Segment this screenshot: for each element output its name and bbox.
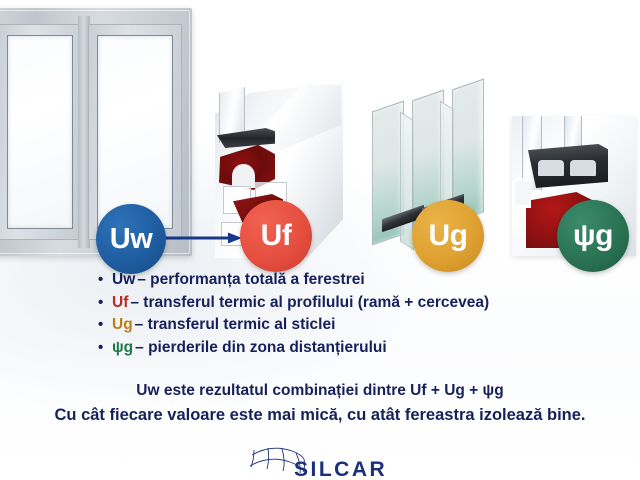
bullet-marker: • — [98, 340, 112, 355]
list-item: • ψg – pierderile din zona distanțierulu… — [98, 340, 568, 356]
bullet-description: – performanța totală a ferestrei — [137, 272, 364, 288]
list-item: • Uf – transferul termic al profilului (… — [98, 295, 568, 311]
list-item: • Ug – transferul termic al sticlei — [98, 317, 568, 333]
badge-psig[interactable]: ψg — [557, 200, 629, 272]
bullet-marker: • — [98, 295, 112, 310]
badge-uf-label: Uf — [261, 221, 292, 251]
bullet-marker: • — [98, 272, 112, 287]
list-item: • Uw – performanța totală a ferestrei — [98, 272, 568, 288]
badge-uf[interactable]: Uf — [240, 200, 312, 272]
bullet-term: Ug — [112, 317, 133, 333]
slide-canvas: Uw Uf Ug ψg • Uw – performanța totală a … — [0, 0, 640, 480]
bullet-description: – transferul termic al sticlei — [135, 317, 336, 333]
badge-ug[interactable]: Ug — [412, 200, 484, 272]
bullet-term: ψg — [112, 340, 133, 356]
bullet-marker: • — [98, 317, 112, 332]
summary-line-1: Uw este rezultatul combinației dintre Uf… — [0, 382, 640, 400]
bullet-term: Uf — [112, 295, 128, 311]
badge-psig-label: ψg — [573, 221, 613, 251]
bullet-term: Uw — [112, 272, 135, 288]
badge-uw[interactable]: Uw — [96, 204, 166, 274]
arrow-uw-to-uf-icon — [158, 232, 244, 244]
legend-list: • Uw – performanța totală a ferestrei • … — [98, 272, 568, 362]
silcar-logo[interactable]: SILCAR — [248, 446, 396, 480]
silcar-wordmark: SILCAR — [294, 458, 387, 480]
window-photo — [0, 8, 192, 256]
bullet-description: – transferul termic al profilului (ramă … — [130, 295, 489, 311]
bullet-description: – pierderile din zona distanțierului — [135, 340, 387, 356]
summary-line-2: Cu cât fiecare valoare este mai mică, cu… — [0, 406, 640, 425]
badge-uw-label: Uw — [110, 225, 153, 254]
badge-ug-label: Ug — [429, 221, 468, 251]
